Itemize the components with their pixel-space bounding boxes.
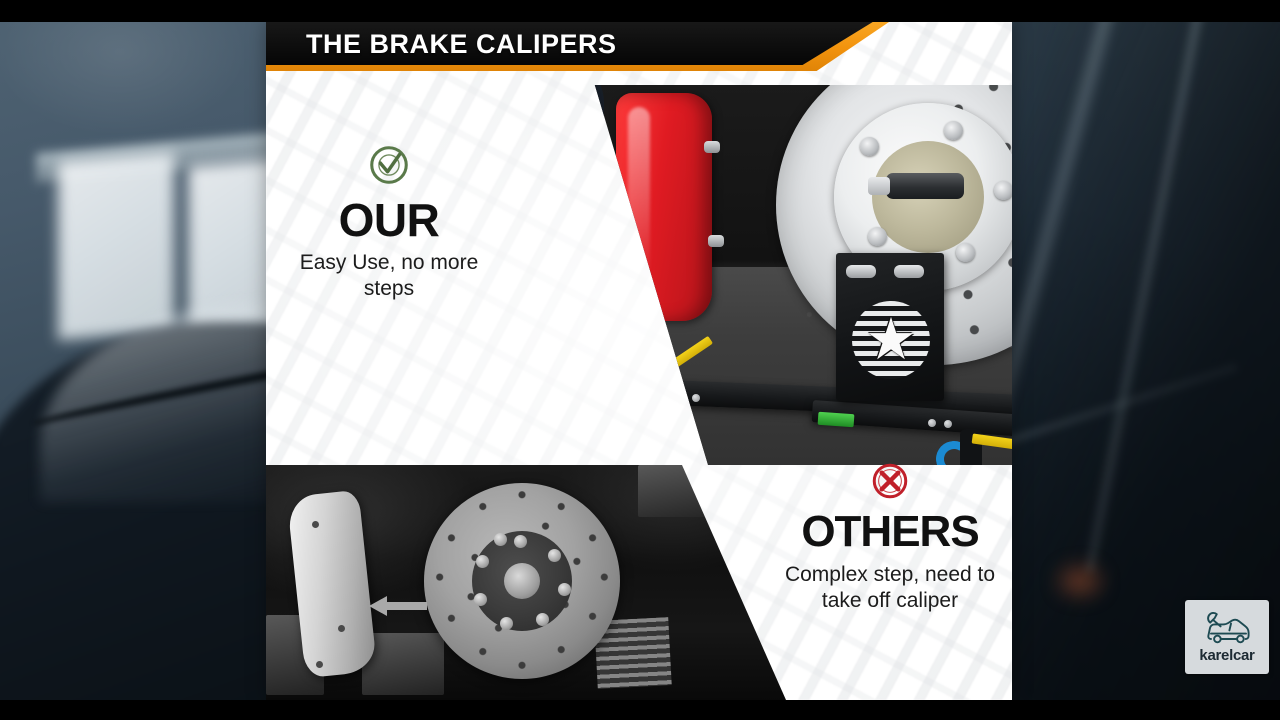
caliper-highlight xyxy=(628,107,650,277)
caliper-bolt-hole xyxy=(312,521,319,528)
star-glyph: ★ xyxy=(852,301,930,379)
plate-stud xyxy=(846,265,876,278)
lug-nut xyxy=(944,121,963,140)
bar-rivet xyxy=(692,394,700,402)
our-callout: OUR Easy Use, no more steps xyxy=(280,142,498,302)
channel-watermark[interactable]: karelcar xyxy=(1185,600,1269,674)
hook-shaft xyxy=(542,419,573,432)
x-circle-icon xyxy=(869,460,911,502)
hook-shaft xyxy=(558,402,576,430)
others-subtext: Complex step, need to take off caliper xyxy=(772,562,1008,614)
rotor-bolt xyxy=(548,549,561,562)
letterbox-bottom xyxy=(0,700,1280,720)
yellow-strap xyxy=(607,363,677,401)
infographic-card: ★ xyxy=(266,22,1012,700)
bar-rivet xyxy=(944,420,952,428)
caliper-bolt-hole xyxy=(316,661,323,668)
tail-light-glow xyxy=(1060,567,1100,595)
level-indicator xyxy=(818,412,855,427)
lug-nut xyxy=(994,181,1012,200)
others-product-photo xyxy=(266,465,786,700)
left-arrow-icon xyxy=(369,595,427,617)
lug-nut xyxy=(860,137,879,156)
wheel-rim-lip xyxy=(464,321,580,363)
others-callout: OTHERS Complex step, need to take off ca… xyxy=(772,460,1008,614)
plate-stud xyxy=(894,265,924,278)
blue-hook-clamp xyxy=(579,366,623,410)
rotor-bolt xyxy=(500,617,513,630)
rotor-bolt xyxy=(514,535,527,548)
garage-scene-color: ★ xyxy=(416,85,1012,465)
background-part xyxy=(638,465,734,517)
caliper-bolt xyxy=(704,141,720,153)
header-banner: THE BRAKE CALIPERS xyxy=(266,22,1012,74)
others-heading: OTHERS xyxy=(772,508,1008,556)
rotor-bolt xyxy=(474,593,487,606)
garage-scene-grayscale xyxy=(266,465,786,700)
spindle-tip xyxy=(868,177,890,195)
window-pane-left xyxy=(58,152,174,340)
rotor-bolt xyxy=(558,583,571,596)
our-product-photo: ★ xyxy=(416,85,1012,465)
rotor-bolt xyxy=(476,555,489,568)
lug-nut xyxy=(956,243,975,262)
caliper-bolt xyxy=(708,235,724,247)
blue-hook-clamp xyxy=(557,360,606,409)
star-flag-icon: ★ xyxy=(852,301,930,379)
our-subtext: Easy Use, no more steps xyxy=(280,250,498,302)
caliper-bolt-hole xyxy=(338,625,345,632)
letterbox-top xyxy=(0,0,1280,22)
car-wrench-icon xyxy=(1201,611,1253,647)
video-frame: ★ xyxy=(0,0,1280,720)
bar-rivet xyxy=(674,393,682,401)
page-title: THE BRAKE CALIPERS xyxy=(306,26,617,62)
bar-rivet xyxy=(928,419,936,427)
lug-nut xyxy=(868,227,887,246)
rotor-bolt xyxy=(536,613,549,626)
check-circle-icon xyxy=(366,142,412,188)
our-heading: OUR xyxy=(280,196,498,244)
watermark-label: karelcar xyxy=(1199,648,1254,664)
hub-cap xyxy=(504,563,540,599)
rotor-bolt xyxy=(494,533,507,546)
wheel-spindle xyxy=(886,173,964,199)
